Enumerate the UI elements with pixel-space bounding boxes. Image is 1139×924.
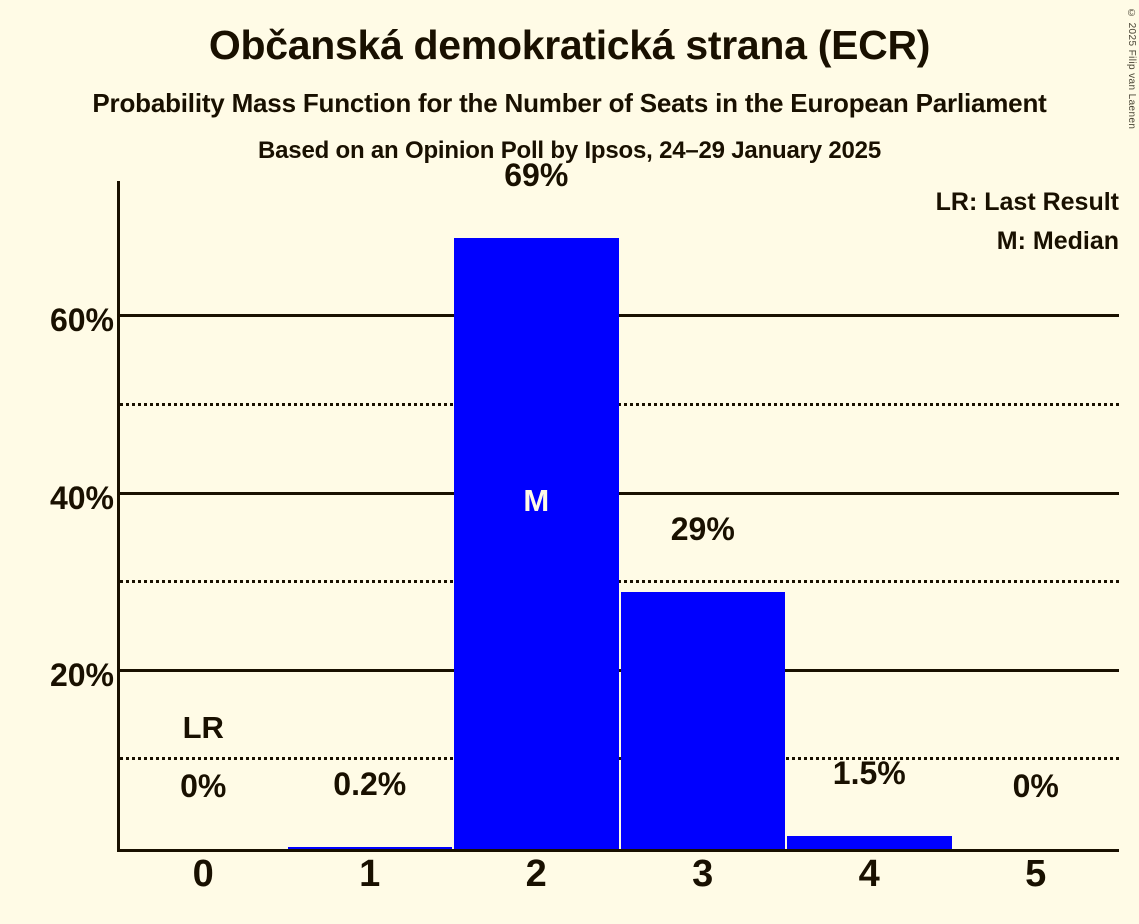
bar-value-label-seat-5: 0% — [953, 768, 1120, 805]
marker-last-result: LR — [120, 710, 287, 746]
y-axis-tick-label: 40% — [50, 480, 114, 517]
plot-area: 20%40%60% 0%0.2%69%29%1.5%0% LRM 012345 — [120, 181, 1119, 849]
y-axis-tick-label: 20% — [50, 657, 114, 694]
bar-seat-1 — [288, 847, 453, 849]
bar-value-label-seat-2: 69% — [453, 157, 620, 194]
x-axis-tick-label-4: 4 — [786, 853, 953, 896]
x-axis-tick-label-5: 5 — [953, 853, 1120, 896]
gridline-major — [120, 492, 1119, 495]
y-axis-line — [117, 181, 120, 849]
marker-median: M — [453, 483, 620, 519]
bar-value-label-seat-0: 0% — [120, 768, 287, 805]
bar-value-label-seat-3: 29% — [620, 511, 787, 548]
gridline-minor — [120, 403, 1119, 406]
gridline-major — [120, 314, 1119, 317]
copyright-notice: © 2025 Filip van Laenen — [1126, 8, 1137, 129]
chart-root: Občanská demokratická strana (ECR) Proba… — [0, 0, 1139, 924]
bar-seat-3 — [621, 592, 786, 849]
bar-seat-2 — [454, 238, 619, 849]
x-axis-line — [117, 849, 1119, 852]
gridline-minor — [120, 580, 1119, 583]
page-title: Občanská demokratická strana (ECR) — [0, 22, 1139, 69]
bar-value-label-seat-1: 0.2% — [287, 766, 454, 803]
gridline-minor — [120, 757, 1119, 760]
y-axis-tick-label: 60% — [50, 302, 114, 339]
gridline-major — [120, 669, 1119, 672]
x-axis-tick-label-0: 0 — [120, 853, 287, 896]
bar-value-label-seat-4: 1.5% — [786, 755, 953, 792]
x-axis-tick-label-3: 3 — [620, 853, 787, 896]
chart-subtitle: Probability Mass Function for the Number… — [0, 88, 1139, 119]
x-axis-tick-label-1: 1 — [287, 853, 454, 896]
x-axis-tick-label-2: 2 — [453, 853, 620, 896]
bar-seat-4 — [787, 836, 952, 849]
